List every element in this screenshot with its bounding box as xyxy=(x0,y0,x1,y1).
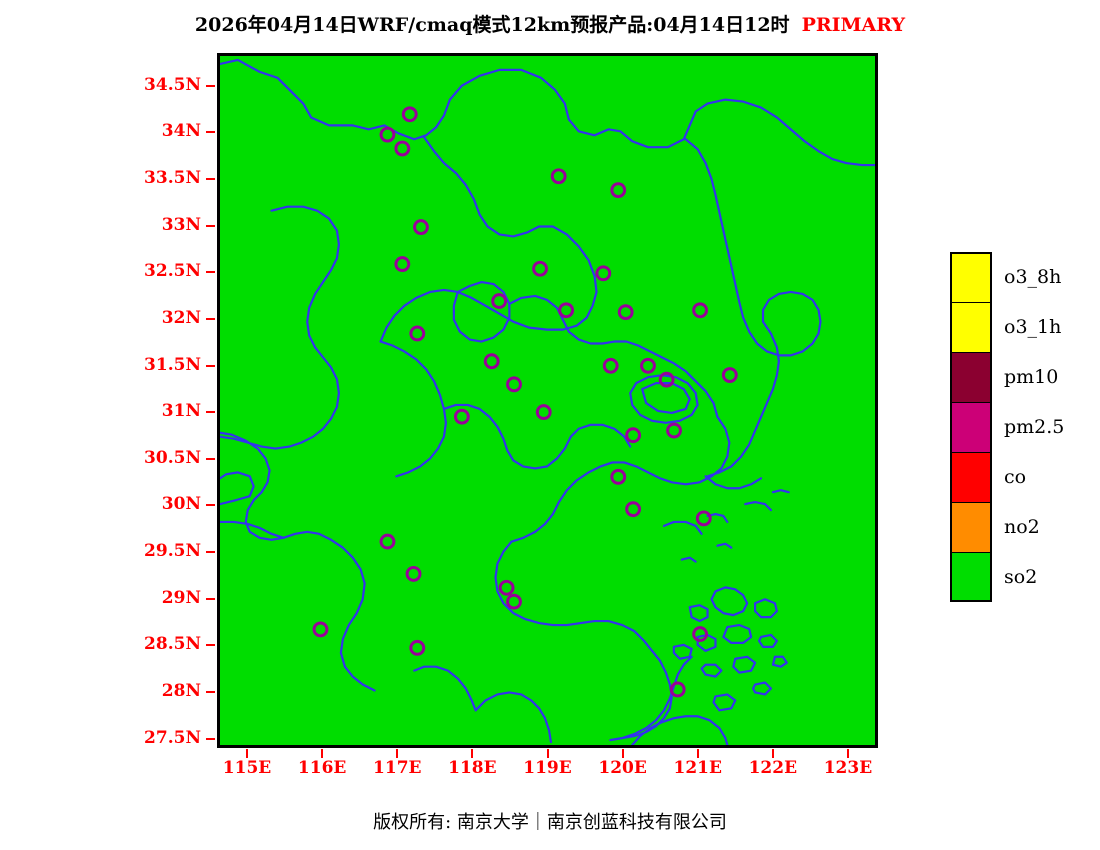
y-axis-tick-mark xyxy=(206,178,215,180)
x-axis-tick-label: 115E xyxy=(207,758,287,778)
y-axis-tick-label: 30N xyxy=(109,494,201,514)
legend-item-o3-1h[interactable]: o3_1h xyxy=(950,302,1064,352)
legend-swatch xyxy=(950,452,992,502)
y-axis-tick-mark xyxy=(206,225,215,227)
y-axis-tick-mark xyxy=(206,691,215,693)
legend-label: no2 xyxy=(1004,516,1040,538)
x-axis-tick-mark xyxy=(321,749,323,758)
x-axis-tick-label: 120E xyxy=(583,758,663,778)
y-axis-tick-mark xyxy=(206,318,215,320)
station-marker[interactable] xyxy=(627,503,640,516)
station-marker[interactable] xyxy=(560,304,573,317)
legend-label: co xyxy=(1004,466,1026,488)
chart-title: 2026年04月14日WRF/cmaq模式12km预报产品:04月14日12时P… xyxy=(0,10,1100,37)
x-axis-tick-label: 117E xyxy=(357,758,437,778)
y-axis-tick-label: 33.5N xyxy=(109,168,201,188)
legend-label: o3_1h xyxy=(1004,316,1061,338)
y-axis-tick-label: 31.5N xyxy=(109,355,201,375)
station-marker[interactable] xyxy=(694,304,707,317)
x-axis-tick-mark xyxy=(471,749,473,758)
copyright-text: 版权所有: 南京大学｜南京创蓝科技有限公司 xyxy=(373,812,727,833)
station-marker[interactable] xyxy=(537,406,550,419)
y-axis-tick-mark xyxy=(206,271,215,273)
station-marker[interactable] xyxy=(500,581,513,594)
y-axis-tick-mark xyxy=(206,131,215,133)
station-marker[interactable] xyxy=(604,359,617,372)
legend-swatch xyxy=(950,502,992,552)
station-marker[interactable] xyxy=(612,184,625,197)
legend-label: pm10 xyxy=(1004,366,1058,388)
legend-item-so2[interactable]: so2 xyxy=(950,552,1064,602)
title-primary-label: PRIMARY xyxy=(802,14,906,36)
y-axis-tick-label: 27.5N xyxy=(109,728,201,748)
x-axis-tick-label: 121E xyxy=(658,758,738,778)
station-marker[interactable] xyxy=(493,295,506,308)
x-axis-tick-mark xyxy=(622,749,624,758)
y-axis-tick-label: 29.5N xyxy=(109,541,201,561)
legend-swatch xyxy=(950,252,992,302)
y-axis-tick-mark xyxy=(206,458,215,460)
station-marker[interactable] xyxy=(534,262,547,275)
station-marker-group xyxy=(314,108,736,696)
y-axis-tick-label: 29N xyxy=(109,588,201,608)
station-marker[interactable] xyxy=(723,369,736,382)
y-axis-tick-mark xyxy=(206,504,215,506)
y-axis-tick-label: 31N xyxy=(109,401,201,421)
station-marker[interactable] xyxy=(381,128,394,141)
station-marker[interactable] xyxy=(407,567,420,580)
station-marker[interactable] xyxy=(411,327,424,340)
station-marker[interactable] xyxy=(694,628,707,641)
y-axis-tick-mark xyxy=(206,644,215,646)
station-marker[interactable] xyxy=(381,535,394,548)
copyright-footer: 版权所有: 南京大学｜南京创蓝科技有限公司 xyxy=(0,808,1100,834)
legend-swatch xyxy=(950,552,992,602)
y-axis-tick-mark xyxy=(206,85,215,87)
x-axis-tick-label: 118E xyxy=(432,758,512,778)
legend-label: pm2.5 xyxy=(1004,416,1064,438)
station-marker[interactable] xyxy=(597,267,610,280)
x-axis-tick-label: 116E xyxy=(282,758,362,778)
station-marker[interactable] xyxy=(314,623,327,636)
y-axis-tick-label: 34.5N xyxy=(109,75,201,95)
x-axis-tick-label: 119E xyxy=(508,758,588,778)
y-axis-tick-label: 28N xyxy=(109,681,201,701)
station-marker[interactable] xyxy=(485,355,498,368)
pollutant-legend[interactable]: o3_8ho3_1hpm10pm2.5cono2so2 xyxy=(950,252,1064,602)
y-axis-tick-label: 28.5N xyxy=(109,634,201,654)
y-axis-tick-label: 32.5N xyxy=(109,261,201,281)
station-marker[interactable] xyxy=(612,470,625,483)
legend-item-pm2-5[interactable]: pm2.5 xyxy=(950,402,1064,452)
station-marker[interactable] xyxy=(403,108,416,121)
station-marker[interactable] xyxy=(396,142,409,155)
legend-label: o3_8h xyxy=(1004,266,1061,288)
y-axis-tick-label: 30.5N xyxy=(109,448,201,468)
station-marker[interactable] xyxy=(552,170,565,183)
y-axis-tick-label: 33N xyxy=(109,215,201,235)
y-axis-tick-mark xyxy=(206,411,215,413)
map-geometry xyxy=(220,56,875,745)
legend-item-no2[interactable]: no2 xyxy=(950,502,1064,552)
x-axis-tick-label: 123E xyxy=(808,758,888,778)
y-axis-tick-label: 34N xyxy=(109,121,201,141)
station-marker[interactable] xyxy=(668,424,681,437)
station-marker[interactable] xyxy=(619,306,632,319)
station-marker[interactable] xyxy=(411,641,424,654)
legend-item-co[interactable]: co xyxy=(950,452,1064,502)
legend-item-o3-8h[interactable]: o3_8h xyxy=(950,252,1064,302)
y-axis-tick-mark xyxy=(206,365,215,367)
x-axis-tick-mark xyxy=(547,749,549,758)
legend-label: so2 xyxy=(1004,566,1037,588)
station-marker[interactable] xyxy=(396,258,409,271)
title-main-text: 2026年04月14日WRF/cmaq模式12km预报产品:04月14日12时 xyxy=(195,14,790,36)
y-axis-tick-label: 32N xyxy=(109,308,201,328)
x-axis-tick-mark xyxy=(246,749,248,758)
station-marker[interactable] xyxy=(627,429,640,442)
x-axis-tick-label: 122E xyxy=(733,758,813,778)
y-axis-tick-mark xyxy=(206,598,215,600)
map-plot-area[interactable] xyxy=(217,53,878,748)
y-axis-tick-mark xyxy=(206,551,215,553)
station-marker[interactable] xyxy=(508,595,521,608)
station-marker[interactable] xyxy=(455,410,468,423)
station-marker[interactable] xyxy=(642,359,655,372)
legend-swatch xyxy=(950,402,992,452)
legend-swatch xyxy=(950,352,992,402)
station-marker[interactable] xyxy=(697,512,710,525)
y-axis-tick-mark xyxy=(206,738,215,740)
x-axis-tick-mark xyxy=(847,749,849,758)
x-axis-tick-mark xyxy=(396,749,398,758)
legend-item-pm10[interactable]: pm10 xyxy=(950,352,1064,402)
x-axis-tick-mark xyxy=(697,749,699,758)
station-marker[interactable] xyxy=(415,221,428,234)
province-boundaries xyxy=(220,60,875,745)
x-axis-tick-mark xyxy=(772,749,774,758)
legend-swatch xyxy=(950,302,992,352)
station-marker[interactable] xyxy=(508,378,521,391)
